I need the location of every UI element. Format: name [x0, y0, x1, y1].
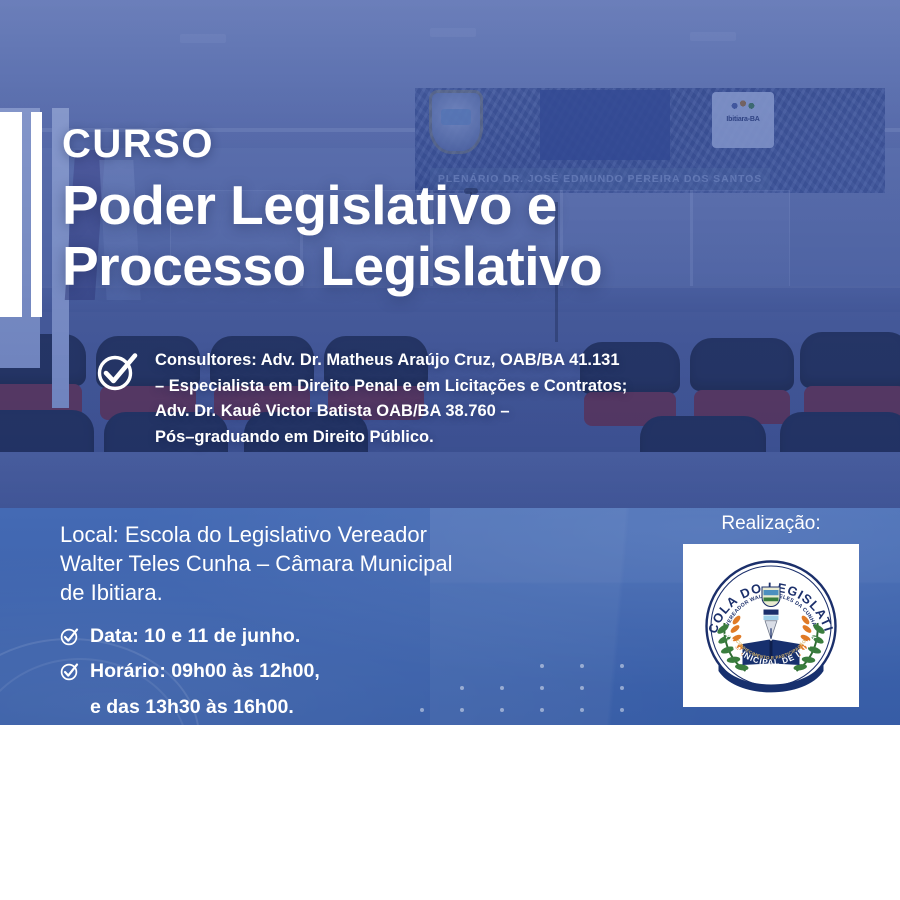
headline-group: CURSO Poder Legislativo e Processo Legis… [62, 124, 602, 297]
check-circle-icon [60, 662, 79, 681]
realization-label: Realização: [683, 513, 859, 535]
consultants-line-2: – Especialista em Direito Penal e em Lic… [155, 374, 627, 400]
accent-bar-left-1 [0, 112, 22, 317]
location-line-1: Local: Escola do Legislativo Vereador [60, 520, 453, 549]
location-line-3: de Ibitiara. [60, 578, 453, 607]
consultants-line-4: Pós–graduando em Direito Público. [155, 425, 627, 451]
date-label: Data: 10 e 11 de junho. [90, 624, 300, 649]
course-kicker: CURSO [62, 124, 602, 164]
event-details: Local: Escola do Legislativo Vereador Wa… [60, 520, 453, 720]
course-title-line2: Processo Legislativo [62, 237, 602, 296]
consultants-line-3: Adv. Dr. Kauê Victor Batista OAB/BA 38.7… [155, 399, 627, 425]
event-poster: Ibitiara-BA PLENÁRIO DR. JOSÉ EDMUNDO PE… [0, 0, 900, 900]
time-label-2: e das 13h30 às 16h00. [90, 695, 453, 720]
check-circle-icon [95, 350, 139, 394]
realization-block: Realização: ESCOLA DO LEGISLATIVO VEREAD… [683, 513, 859, 707]
consultants-line-1: Consultores: Adv. Dr. Matheus Araújo Cru… [155, 348, 627, 374]
consultants-text: Consultores: Adv. Dr. Matheus Araújo Cru… [155, 348, 627, 450]
course-title-line1: Poder Legislativo e [62, 176, 602, 235]
accent-bar-left-2 [31, 112, 42, 317]
consultants-block: Consultores: Adv. Dr. Matheus Araújo Cru… [95, 348, 795, 450]
footer: @camaradeibitiara /camaradeibitiara [0, 725, 900, 900]
time-row: Horário: 09h00 às 12h00, [60, 659, 453, 684]
check-circle-icon [60, 627, 79, 646]
date-row: Data: 10 e 11 de junho. [60, 624, 453, 649]
location-line-2: Walter Teles Cunha – Câmara Municipal [60, 549, 453, 578]
dot-grid-decoration [455, 655, 705, 725]
seal-icon: ESCOLA DO LEGISLATIVO VEREADOR WALTER TE… [696, 551, 846, 701]
bullet-list: Data: 10 e 11 de junho. Horário: 09h00 à… [60, 624, 453, 720]
escola-legislativo-seal: ESCOLA DO LEGISLATIVO VEREADOR WALTER TE… [683, 544, 859, 707]
time-label: Horário: 09h00 às 12h00, [90, 659, 320, 684]
